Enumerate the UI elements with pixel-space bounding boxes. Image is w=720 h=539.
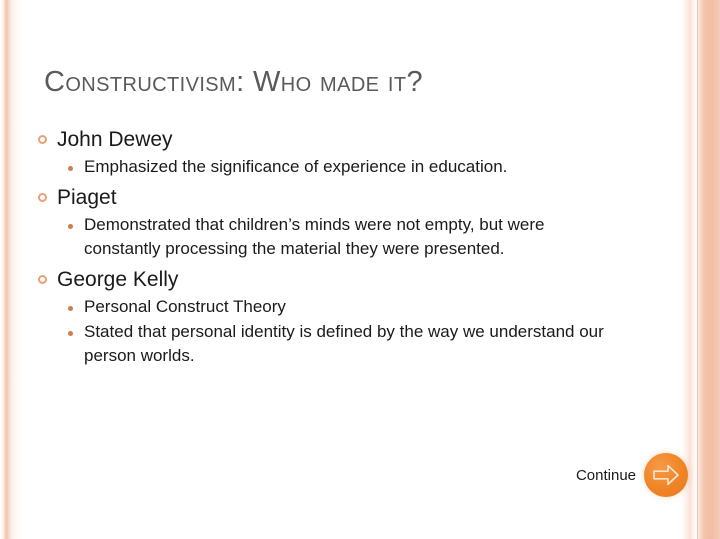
- ring-bullet-icon: [38, 193, 47, 202]
- bullet-level1-label: George Kelly: [57, 266, 178, 293]
- dot-bullet-icon: [68, 331, 73, 336]
- bullet-level2-item: Emphasized the significance of experienc…: [68, 155, 638, 179]
- bullet-level2-item: Stated that personal identity is defined…: [68, 320, 638, 368]
- bullet-level1-label: Piaget: [57, 184, 117, 211]
- bullet-group: Piaget Demonstrated that children’s mind…: [38, 184, 638, 261]
- bullet-level2-item: Demonstrated that children’s minds were …: [68, 213, 638, 261]
- bullet-level1-item: John Dewey: [38, 126, 638, 153]
- left-edge-decoration: [0, 0, 26, 539]
- bullet-level2-label: Stated that personal identity is defined…: [84, 320, 624, 368]
- continue-control[interactable]: Continue: [576, 453, 688, 497]
- continue-button[interactable]: [644, 453, 688, 497]
- bullet-group: George Kelly Personal Construct Theory S…: [38, 266, 638, 368]
- presentation-slide: Constructivism: Who made it? John Dewey …: [0, 0, 720, 539]
- arrow-right-icon: [651, 462, 681, 488]
- bullet-level2-label: Personal Construct Theory: [84, 295, 286, 319]
- ring-bullet-icon: [38, 275, 47, 284]
- bullet-level2-item: Personal Construct Theory: [68, 295, 638, 319]
- dot-bullet-icon: [68, 166, 73, 171]
- bullet-group: John Dewey Emphasized the significance o…: [38, 126, 638, 179]
- dot-bullet-icon: [68, 224, 73, 229]
- bullet-level2-label: Demonstrated that children’s minds were …: [84, 213, 624, 261]
- bullet-level2-label: Emphasized the significance of experienc…: [84, 155, 507, 179]
- right-edge-divider-line: [697, 0, 698, 539]
- ring-bullet-icon: [38, 135, 47, 144]
- slide-body: John Dewey Emphasized the significance o…: [38, 126, 638, 373]
- bullet-level1-item: Piaget: [38, 184, 638, 211]
- bullet-level1-item: George Kelly: [38, 266, 638, 293]
- continue-label: Continue: [576, 468, 636, 483]
- slide-title: Constructivism: Who made it?: [44, 66, 423, 99]
- bullet-level1-label: John Dewey: [57, 126, 173, 153]
- dot-bullet-icon: [68, 306, 73, 311]
